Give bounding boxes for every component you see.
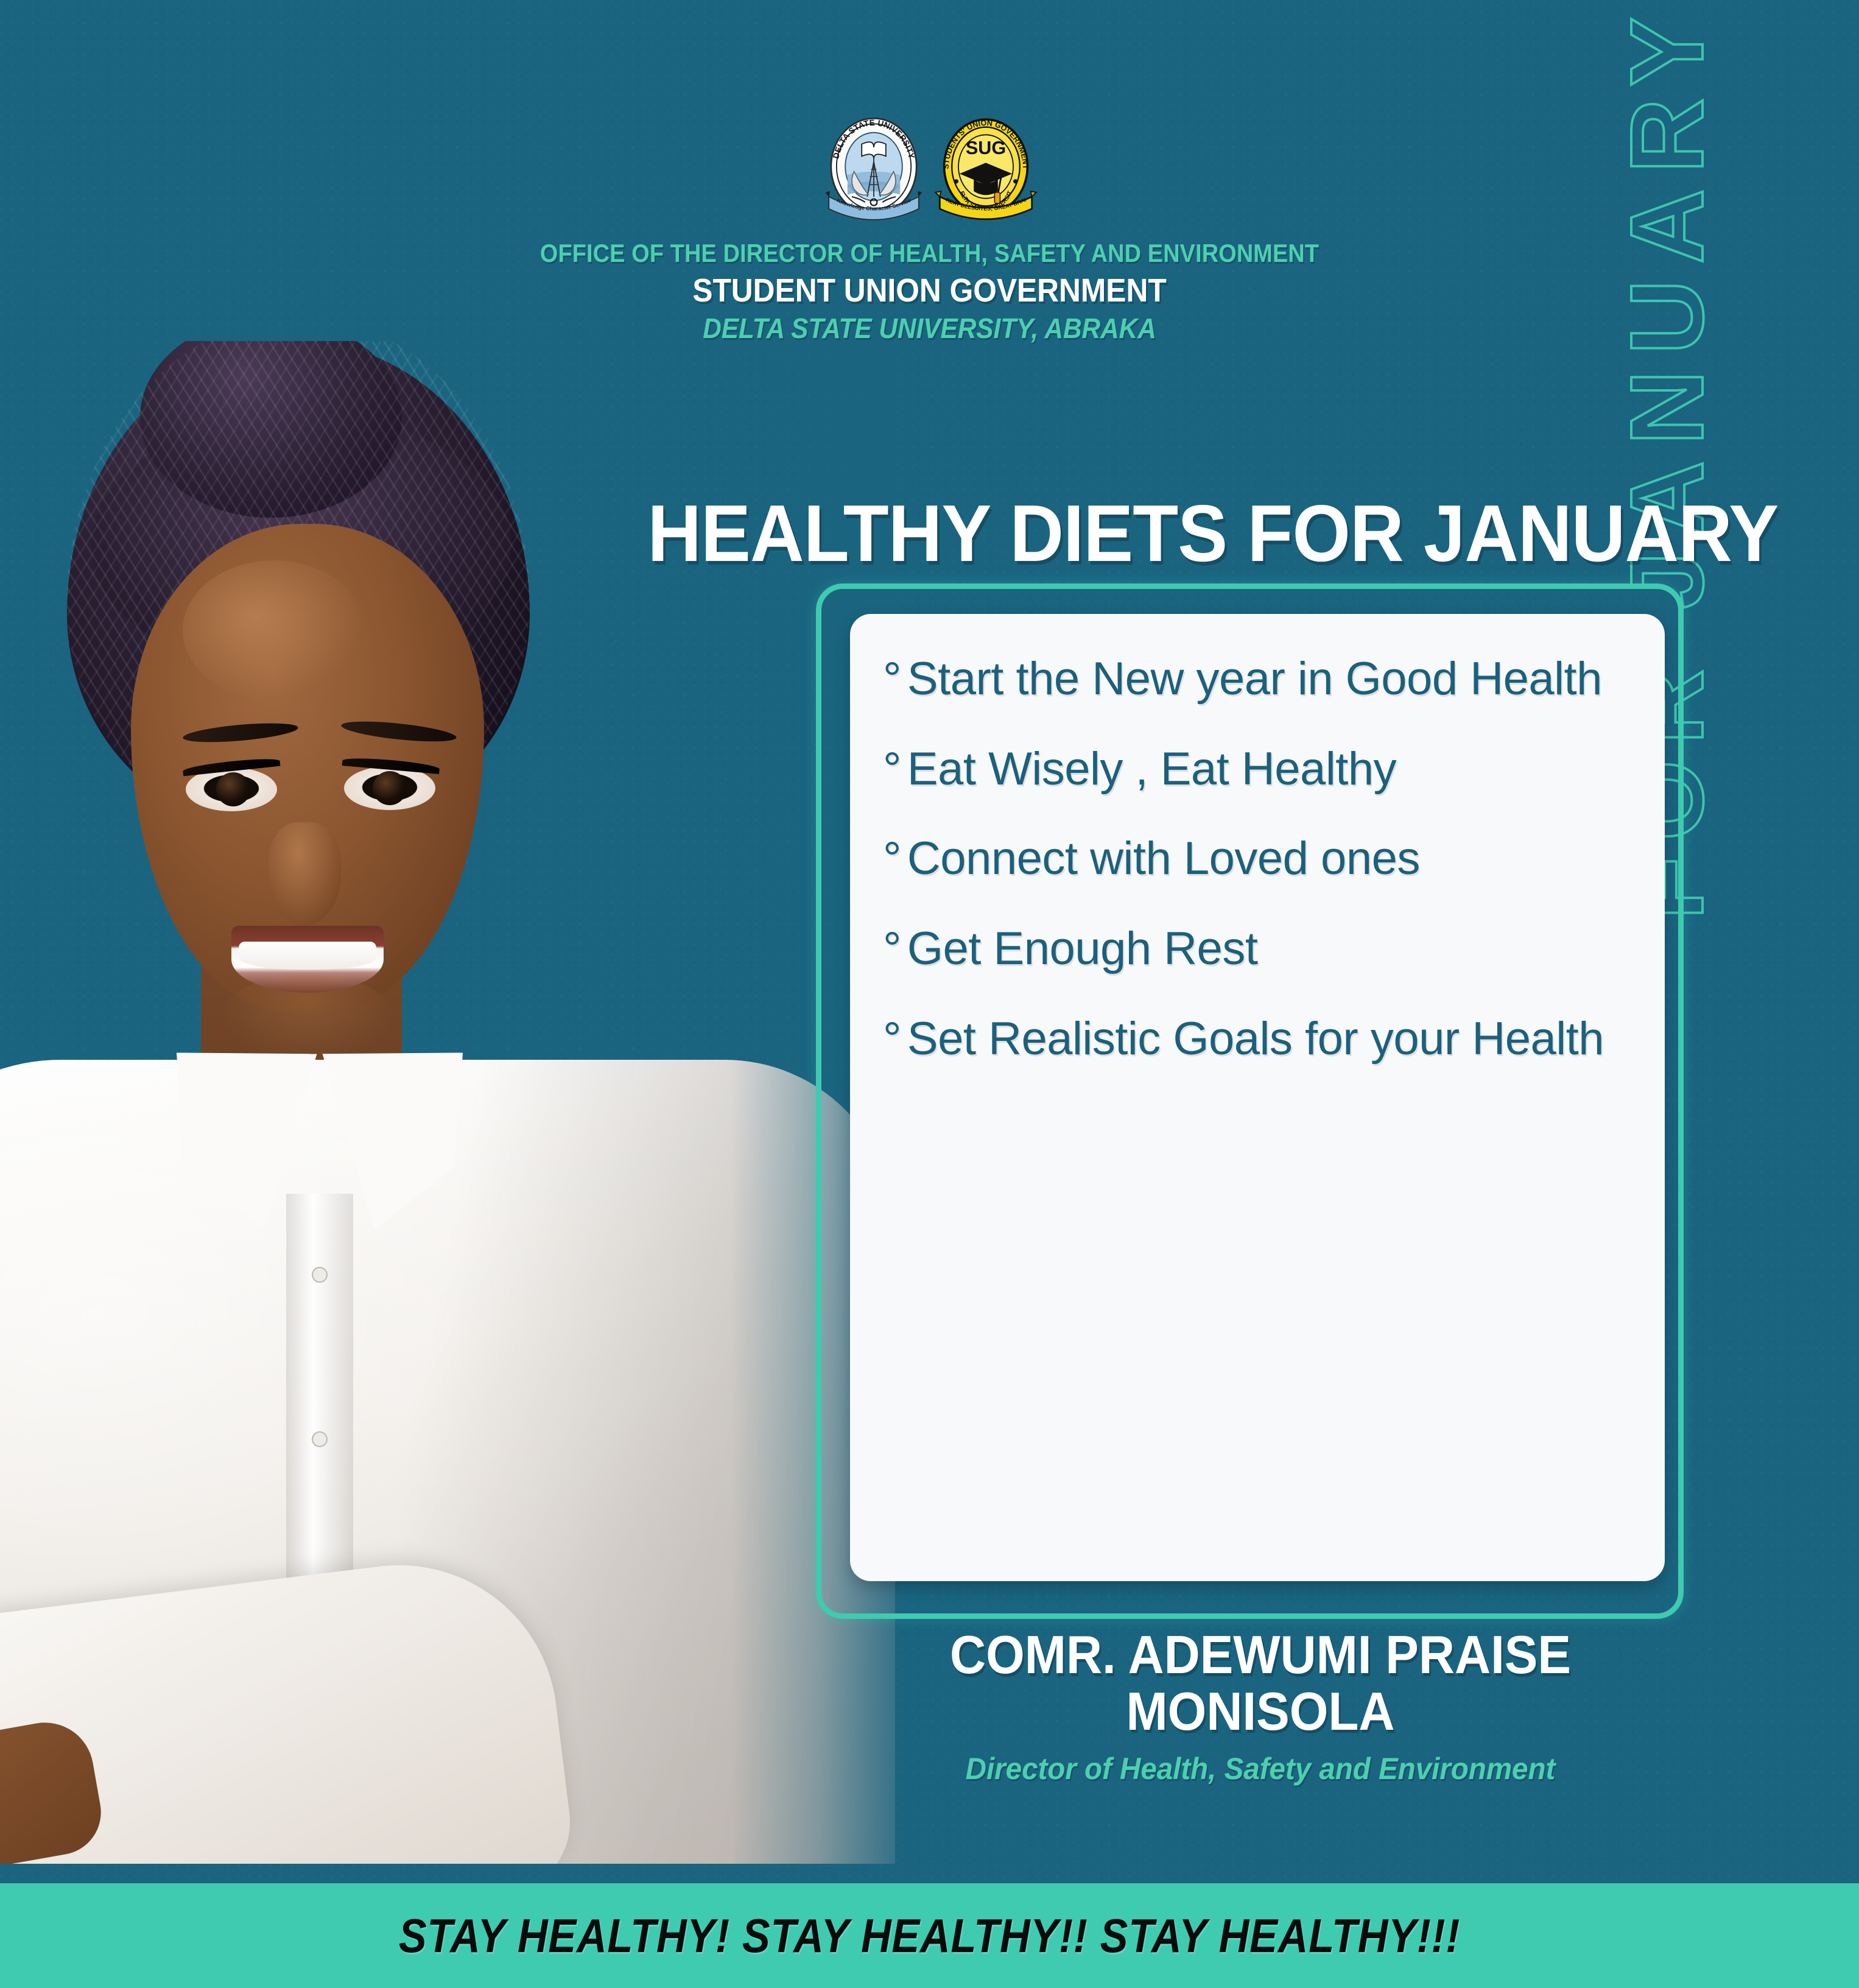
teeth-shape	[239, 942, 376, 970]
logo-row: DELTA STATE UNIVERSITY Knowledge Charact…	[0, 115, 1859, 224]
tip-text: Connect with Loved ones	[907, 833, 1420, 884]
forehead-highlight	[183, 560, 365, 700]
director-role: Director of Health, Safety and Environme…	[856, 1751, 1665, 1786]
bullet-icon: °	[883, 743, 901, 795]
tips-card: °Start the New year in Good Health °Eat …	[850, 614, 1665, 1581]
tip-text: Set Realistic Goals for your Health	[907, 1013, 1604, 1065]
pupil-right	[373, 771, 407, 805]
tip-text: Start the New year in Good Health	[907, 653, 1602, 705]
organization-line: STUDENT UNION GOVERNMENT	[74, 272, 1785, 309]
page-title: HEALTHY DIETS FOR JANUARY	[647, 487, 1672, 579]
list-item: °Set Realistic Goals for your Health	[883, 1012, 1628, 1066]
footer-banner: STAY HEALTHY! STAY HEALTHY!! STAY HEALTH…	[0, 1883, 1859, 1988]
delta-state-university-seal-icon: DELTA STATE UNIVERSITY Knowledge Charact…	[819, 115, 929, 224]
svg-text:SUG: SUG	[965, 138, 1005, 158]
health-poster: DELTA STATE UNIVERSITY Knowledge Charact…	[0, 0, 1859, 1988]
bullet-icon: °	[883, 923, 901, 975]
office-line: OFFICE OF THE DIRECTOR OF HEALTH, SAFETY…	[93, 239, 1766, 268]
bullet-icon: °	[883, 653, 901, 705]
nose-shape	[268, 822, 341, 926]
bullet-icon: °	[883, 833, 901, 884]
footer-slogan: STAY HEALTHY! STAY HEALTHY!! STAY HEALTH…	[399, 1908, 1460, 1964]
pupil-left	[216, 772, 250, 806]
poster-header: DELTA STATE UNIVERSITY Knowledge Charact…	[0, 115, 1859, 345]
tips-list: °Start the New year in Good Health °Eat …	[883, 652, 1628, 1066]
tip-text: Eat Wisely , Eat Healthy	[907, 743, 1396, 795]
students-union-government-seal-icon: SUG STUDENTS' UNION GOVERNMENT DELTA STA…	[931, 115, 1041, 224]
director-name-line2: MONISOLA	[864, 1683, 1657, 1739]
director-name-line1: COMR. ADEWUMI PRAISE	[864, 1626, 1657, 1683]
shirt-button	[312, 1267, 328, 1283]
shirt-button	[312, 1431, 328, 1447]
institution-line: DELTA STATE UNIVERSITY, ABRAKA	[74, 312, 1785, 345]
tip-text: Get Enough Rest	[907, 923, 1258, 975]
bullet-icon: °	[883, 1013, 901, 1065]
list-item: °Get Enough Rest	[883, 922, 1628, 976]
list-item: °Start the New year in Good Health	[883, 652, 1628, 707]
chin-shading	[219, 975, 396, 1066]
list-item: °Connect with Loved ones	[883, 831, 1628, 886]
list-item: °Eat Wisely , Eat Healthy	[883, 742, 1628, 797]
signature-block: COMR. ADEWUMI PRAISE MONISOLA Director o…	[834, 1626, 1687, 1786]
